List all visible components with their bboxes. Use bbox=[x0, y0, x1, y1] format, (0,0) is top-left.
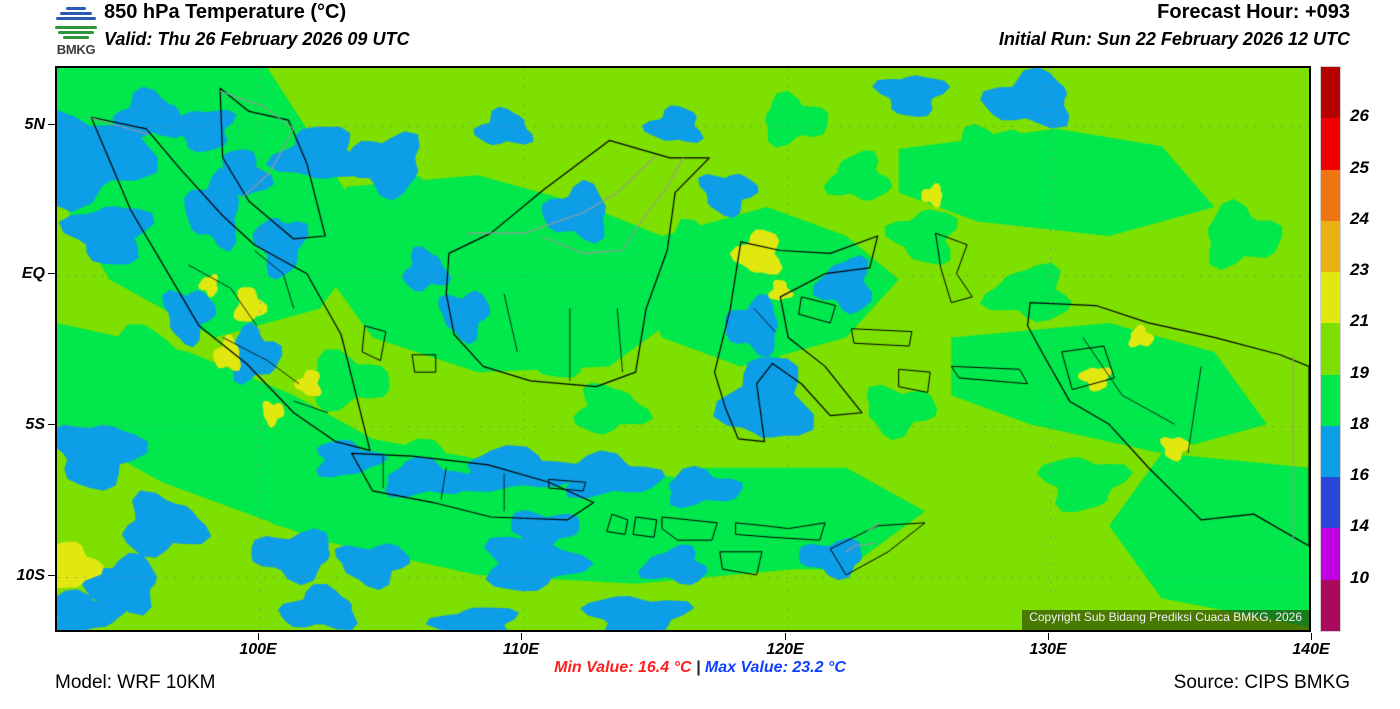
y-tick-label-10S: 10S bbox=[17, 567, 45, 585]
bmkg-logo-label: BMKG bbox=[46, 42, 106, 57]
gridline-lon-120E bbox=[787, 68, 788, 630]
initial-run-label: Initial Run: Sun 22 February 2026 12 UTC bbox=[999, 29, 1350, 50]
gridline-lat-EQ bbox=[57, 275, 1309, 276]
x-tick-label-140E: 140E bbox=[1271, 641, 1351, 659]
bmkg-logo-disc bbox=[52, 2, 100, 44]
min-max-separator: | bbox=[696, 659, 700, 676]
colorbar-tick-21: 21 bbox=[1350, 311, 1369, 331]
colorbar-band-9 bbox=[1321, 528, 1340, 579]
valid-time-label: Valid: Thu 26 February 2026 09 UTC bbox=[104, 29, 409, 50]
colorbar-band-6 bbox=[1321, 375, 1340, 426]
colorbar-band-1 bbox=[1321, 118, 1340, 169]
colorbar-band-0 bbox=[1321, 67, 1340, 118]
y-tick-label-EQ: EQ bbox=[22, 265, 45, 283]
colorbar bbox=[1320, 66, 1341, 632]
map-plot-area: Copyright Sub Bidang Prediksi Cuaca BMKG… bbox=[55, 66, 1311, 632]
gridline-lat-5N bbox=[57, 126, 1309, 127]
temperature-heatmap bbox=[57, 68, 1309, 630]
page-title: 850 hPa Temperature (°C) bbox=[104, 1, 346, 24]
x-tick-label-120E: 120E bbox=[745, 641, 825, 659]
gridline-lon-130E bbox=[1050, 68, 1051, 630]
colorbar-tick-26: 26 bbox=[1350, 106, 1369, 126]
min-value-label: Min Value: 16.4 °C bbox=[554, 659, 691, 676]
forecast-hour-label: Forecast Hour: +093 bbox=[1157, 1, 1350, 24]
colorbar-band-4 bbox=[1321, 272, 1340, 323]
y-tick-label-5S: 5S bbox=[25, 416, 45, 434]
x-tick-label-110E: 110E bbox=[481, 641, 561, 659]
y-tick-label-5N: 5N bbox=[25, 116, 45, 134]
colorbar-tick-14: 14 bbox=[1350, 516, 1369, 536]
header: BMKG 850 hPa Temperature (°C) Valid: Thu… bbox=[0, 0, 1400, 62]
gridline-lon-100E bbox=[260, 68, 261, 630]
colorbar-band-7 bbox=[1321, 426, 1340, 477]
gridline-lat-10S bbox=[57, 577, 1309, 578]
gridline-lat-5S bbox=[57, 426, 1309, 427]
colorbar-tick-19: 19 bbox=[1350, 363, 1369, 383]
x-tick-label-100E: 100E bbox=[218, 641, 298, 659]
colorbar-band-10 bbox=[1321, 580, 1340, 631]
colorbar-tick-25: 25 bbox=[1350, 158, 1369, 178]
x-tick-label-130E: 130E bbox=[1008, 641, 1088, 659]
colorbar-tick-10: 10 bbox=[1350, 568, 1369, 588]
copyright-watermark: Copyright Sub Bidang Prediksi Cuaca BMKG… bbox=[1022, 610, 1309, 630]
colorbar-band-8 bbox=[1321, 477, 1340, 528]
colorbar-tick-23: 23 bbox=[1350, 260, 1369, 280]
colorbar-band-5 bbox=[1321, 323, 1340, 374]
bmkg-logo: BMKG bbox=[46, 2, 106, 58]
colorbar-band-3 bbox=[1321, 221, 1340, 272]
colorbar-band-2 bbox=[1321, 170, 1340, 221]
gridline-lon-110E bbox=[523, 68, 524, 630]
colorbar-tick-16: 16 bbox=[1350, 465, 1369, 485]
colorbar-tick-24: 24 bbox=[1350, 209, 1369, 229]
colorbar-tick-18: 18 bbox=[1350, 414, 1369, 434]
min-max-value-row: Min Value: 16.4 °C | Max Value: 23.2 °C bbox=[0, 659, 1400, 677]
max-value-label: Max Value: 23.2 °C bbox=[705, 659, 846, 676]
